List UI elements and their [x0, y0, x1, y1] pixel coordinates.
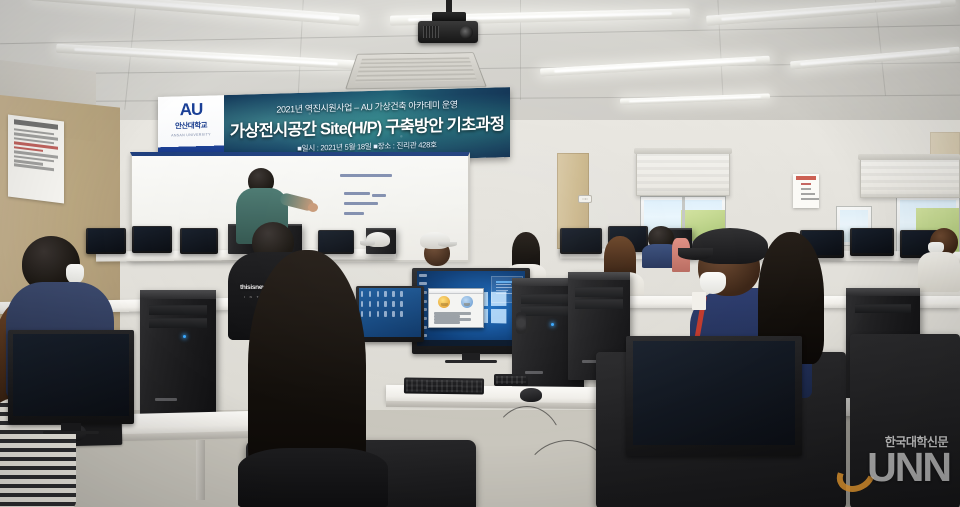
monitor-secondary-screen[interactable]	[359, 288, 422, 337]
cable	[492, 406, 562, 446]
au-logo-mark: AU	[180, 101, 203, 119]
windows-taskbar[interactable]	[417, 340, 526, 347]
pc-tower	[140, 290, 216, 416]
keyboard[interactable]	[404, 377, 484, 394]
blind-roller	[858, 154, 960, 160]
monitor-foreground-left	[8, 330, 134, 424]
whiteboard-note-line	[372, 194, 386, 197]
windows-desktop[interactable]	[417, 271, 526, 346]
monitor-back	[560, 228, 602, 254]
classroom-photo: AU 안산대학교 ANSAN UNIVERSITY 나를 알아주는 대학 202…	[0, 0, 960, 507]
monitor-secondary[interactable]	[356, 286, 424, 342]
university-name-en: ANSAN UNIVERSITY	[171, 132, 211, 137]
whiteboard-note-line	[344, 202, 378, 205]
face-mask	[700, 272, 726, 294]
instructor-hand	[308, 203, 318, 212]
desk-leg	[196, 440, 205, 500]
monitor-back	[86, 228, 126, 254]
whiteboard-note-heading	[340, 174, 392, 177]
dialog-window[interactable]	[428, 288, 484, 328]
ceiling-air-vent	[345, 52, 487, 89]
notice-poster-right	[793, 174, 819, 208]
user-avatar-icon	[438, 296, 450, 308]
projector-vent	[423, 26, 439, 38]
whiteboard-note-line	[344, 212, 364, 215]
computer-mouse[interactable]	[520, 388, 542, 402]
watermark-logo-text: UNN	[867, 447, 950, 488]
desktop-icon-grid[interactable]	[361, 291, 403, 331]
student-cap-white	[366, 232, 390, 247]
student-cap-black	[692, 228, 768, 264]
banner-title: 가상전시공간 Site(H/P) 구축방안 기초과정	[230, 110, 504, 142]
notice-poster-left	[8, 115, 64, 204]
monitor-foreground-right	[626, 336, 802, 456]
user-avatar-icon	[461, 296, 473, 308]
dialog-illustration	[429, 294, 483, 310]
window-blind-right	[860, 158, 960, 198]
keyboard[interactable]	[494, 374, 528, 386]
student-body-foreground	[238, 448, 388, 507]
blind-roller	[634, 148, 732, 154]
monitor-main-screen[interactable]	[417, 271, 526, 346]
window-blind-center	[636, 152, 730, 196]
id-badge	[692, 292, 706, 310]
monitor-back	[850, 228, 894, 256]
monitor-base	[445, 360, 497, 363]
watermark: 한국대학신문 UNN	[830, 433, 950, 499]
face-mask	[66, 264, 84, 284]
dialog-text-lines	[429, 310, 483, 326]
student-body	[918, 252, 960, 292]
monitor-back	[180, 228, 218, 254]
monitor-back	[318, 230, 354, 254]
wall-switch-plate	[578, 195, 592, 203]
monitor-base	[43, 431, 98, 435]
whiteboard-note-line	[344, 192, 370, 195]
university-name-ko: 안산대학교	[175, 120, 207, 132]
poster-heading	[796, 176, 817, 180]
projector-lens	[460, 26, 473, 39]
monitor-back	[132, 226, 172, 253]
student-cap-white	[420, 232, 450, 249]
projector	[418, 21, 478, 43]
